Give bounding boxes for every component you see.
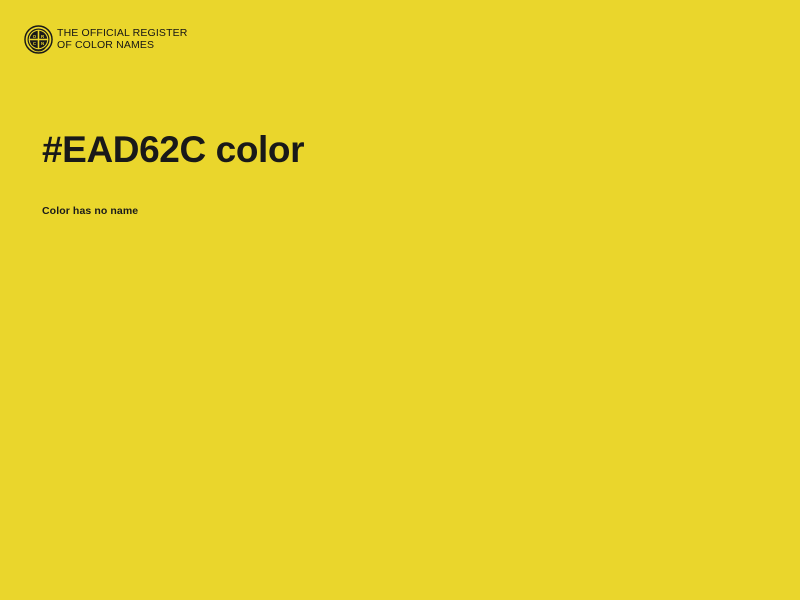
color-name-status: Color has no name [42,172,758,218]
svg-text:N: N [41,41,44,46]
color-info-section: #EAD62C color Color has no name [42,128,758,218]
brand-name: THE OFFICIAL REGISTER OF COLOR NAMES [57,28,188,51]
circular-seal-emblem-icon: O R C N [24,25,53,54]
color-page: O R C N THE OFFICIAL REGISTER OF COLOR N… [0,0,800,600]
page-title: #EAD62C color [42,128,758,172]
brand-header[interactable]: O R C N THE OFFICIAL REGISTER OF COLOR N… [24,25,188,54]
brand-name-line-1: THE OFFICIAL REGISTER [57,28,188,40]
brand-name-line-2: OF COLOR NAMES [57,40,188,52]
